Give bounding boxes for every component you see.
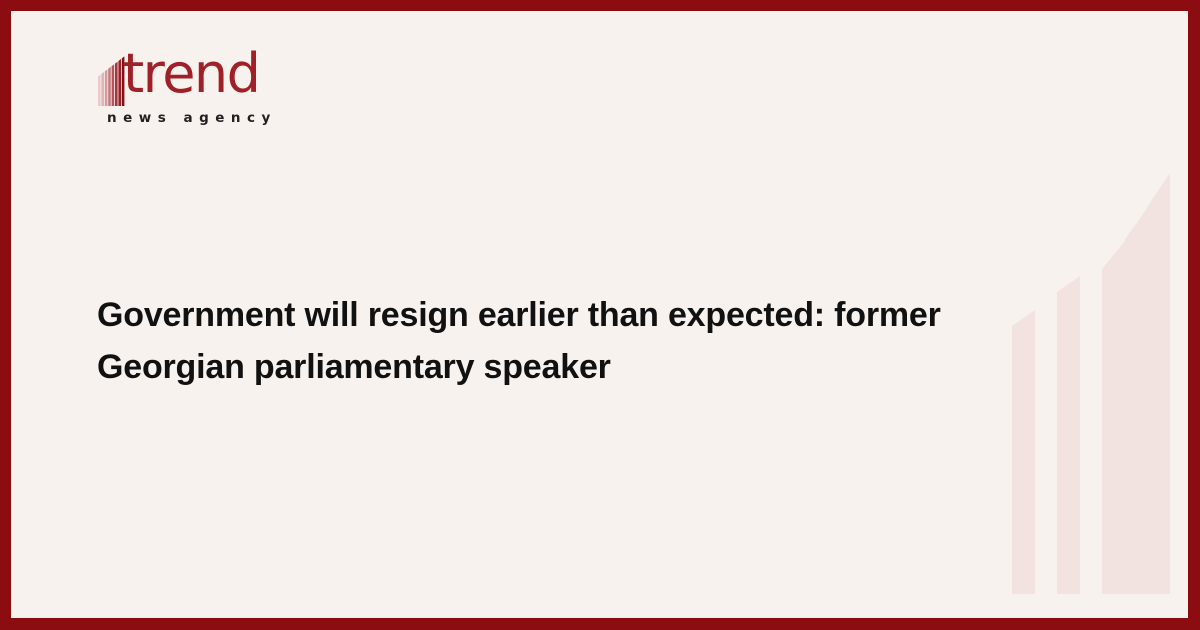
- logo-wordmark-row: trend: [123, 44, 259, 104]
- watermark-bar-5: [1147, 173, 1170, 594]
- logo-wordmark: trend: [123, 42, 259, 105]
- logo-tagline: news agency: [107, 110, 277, 126]
- rising-bars-icon: [98, 56, 126, 106]
- card-canvas: trend news agency Government will resign…: [11, 11, 1188, 618]
- article-headline: Government will resign earlier than expe…: [97, 289, 1037, 393]
- trend-news-agency-logo[interactable]: trend news agency: [98, 44, 278, 134]
- watermark-bar-4: [1125, 207, 1148, 594]
- watermark-bar-2: [1057, 276, 1080, 594]
- article-share-card: trend news agency Government will resign…: [0, 0, 1200, 630]
- watermark-bar-3: [1102, 241, 1125, 594]
